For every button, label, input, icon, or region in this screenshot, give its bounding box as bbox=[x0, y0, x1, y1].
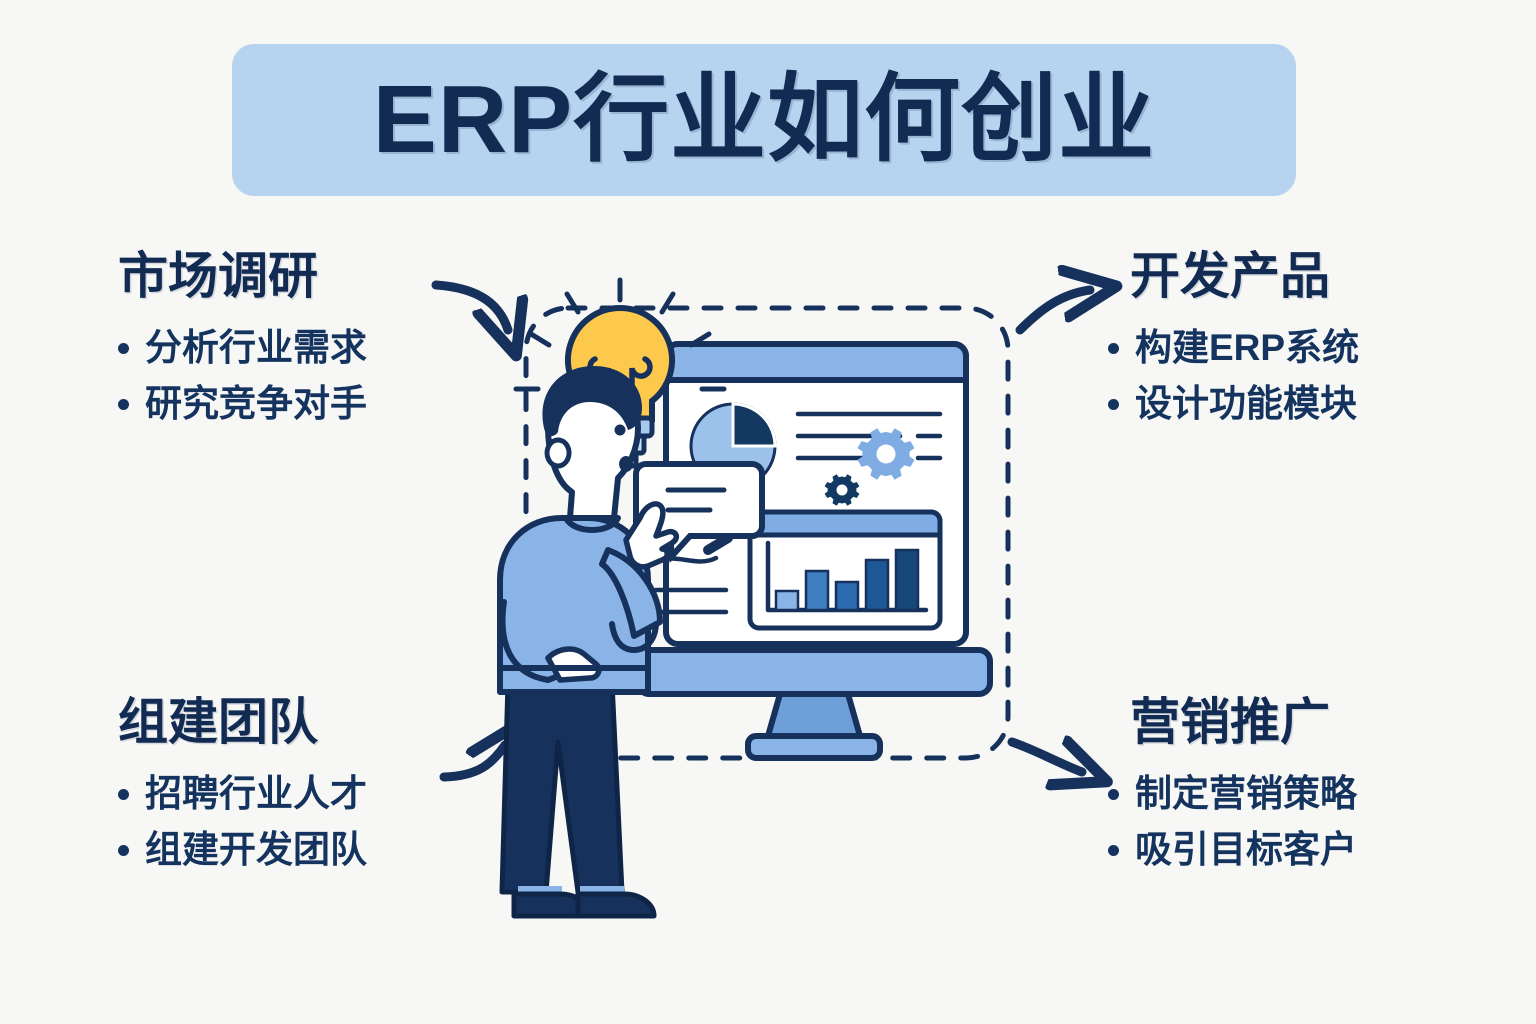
bullet-text: 组建开发团队 bbox=[145, 822, 367, 878]
bar-chart-window-titlebar bbox=[750, 512, 940, 535]
quadrant-bullets-build-team: 招聘行业人才 组建开发团队 bbox=[118, 766, 367, 878]
person-mouth bbox=[619, 456, 633, 472]
monitor-foot bbox=[748, 736, 880, 758]
list-item: 制定营销策略 bbox=[1108, 766, 1357, 822]
quadrant-develop-product: 开发产品 构建ERP系统 设计功能模块 bbox=[1108, 248, 1359, 432]
bullet-dot-icon bbox=[118, 789, 129, 800]
list-item: 分析行业需求 bbox=[118, 320, 367, 376]
desktop-monitor bbox=[638, 344, 990, 758]
quadrant-heading-marketing-promotion: 营销推广 bbox=[1130, 694, 1357, 750]
center-illustration bbox=[470, 250, 1070, 970]
bullet-dot-icon bbox=[118, 343, 129, 354]
infographic-canvas: ERP行业如何创业 市场调研 分析行业需求 研究竞争对手 开发产品 构建ERP系… bbox=[0, 0, 1536, 1024]
person-eye bbox=[615, 425, 626, 436]
monitor-title-bar bbox=[666, 344, 966, 380]
quadrant-bullets-market-research: 分析行业需求 研究竞争对手 bbox=[118, 320, 367, 432]
bullet-dot-icon bbox=[1108, 343, 1119, 354]
person-ear bbox=[547, 440, 569, 466]
quadrant-heading-build-team: 组建团队 bbox=[118, 694, 367, 750]
bullet-dot-icon bbox=[1108, 789, 1119, 800]
bullet-dot-icon bbox=[118, 399, 129, 410]
list-item: 组建开发团队 bbox=[118, 822, 367, 878]
bullet-dot-icon bbox=[118, 845, 129, 856]
list-item: 招聘行业人才 bbox=[118, 766, 367, 822]
bullet-text: 吸引目标客户 bbox=[1135, 822, 1357, 878]
quadrant-bullets-develop-product: 构建ERP系统 设计功能模块 bbox=[1108, 320, 1359, 432]
bullet-text: 制定营销策略 bbox=[1135, 766, 1357, 822]
quadrant-heading-market-research: 市场调研 bbox=[118, 248, 367, 304]
bullet-text: 研究竞争对手 bbox=[145, 376, 367, 432]
list-item: 构建ERP系统 bbox=[1108, 320, 1359, 376]
person-legs bbox=[502, 682, 622, 892]
person-pointing-illustration bbox=[500, 366, 676, 916]
quadrant-marketing-promotion: 营销推广 制定营销策略 吸引目标客户 bbox=[1108, 694, 1357, 878]
monitor-neck bbox=[768, 694, 860, 736]
quadrant-build-team: 组建团队 招聘行业人才 组建开发团队 bbox=[118, 694, 367, 878]
bullet-text: 构建ERP系统 bbox=[1135, 320, 1359, 376]
quadrant-heading-develop-product: 开发产品 bbox=[1130, 248, 1359, 304]
bar-chart-window bbox=[750, 512, 940, 628]
list-item: 吸引目标客户 bbox=[1108, 822, 1357, 878]
bullet-dot-icon bbox=[1108, 399, 1119, 410]
title-banner: ERP行业如何创业 bbox=[232, 44, 1296, 196]
page-title: ERP行业如何创业 bbox=[373, 72, 1155, 168]
person-shoe-right bbox=[578, 894, 654, 916]
quadrant-market-research: 市场调研 分析行业需求 研究竞争对手 bbox=[118, 248, 367, 432]
bullet-text: 招聘行业人才 bbox=[145, 766, 367, 822]
bullet-text: 设计功能模块 bbox=[1135, 376, 1357, 432]
bullet-dot-icon bbox=[1108, 845, 1119, 856]
list-item: 设计功能模块 bbox=[1108, 376, 1359, 432]
list-item: 研究竞争对手 bbox=[118, 376, 367, 432]
bullet-text: 分析行业需求 bbox=[145, 320, 367, 376]
monitor-base-bar bbox=[638, 650, 990, 694]
quadrant-bullets-marketing-promotion: 制定营销策略 吸引目标客户 bbox=[1108, 766, 1357, 878]
